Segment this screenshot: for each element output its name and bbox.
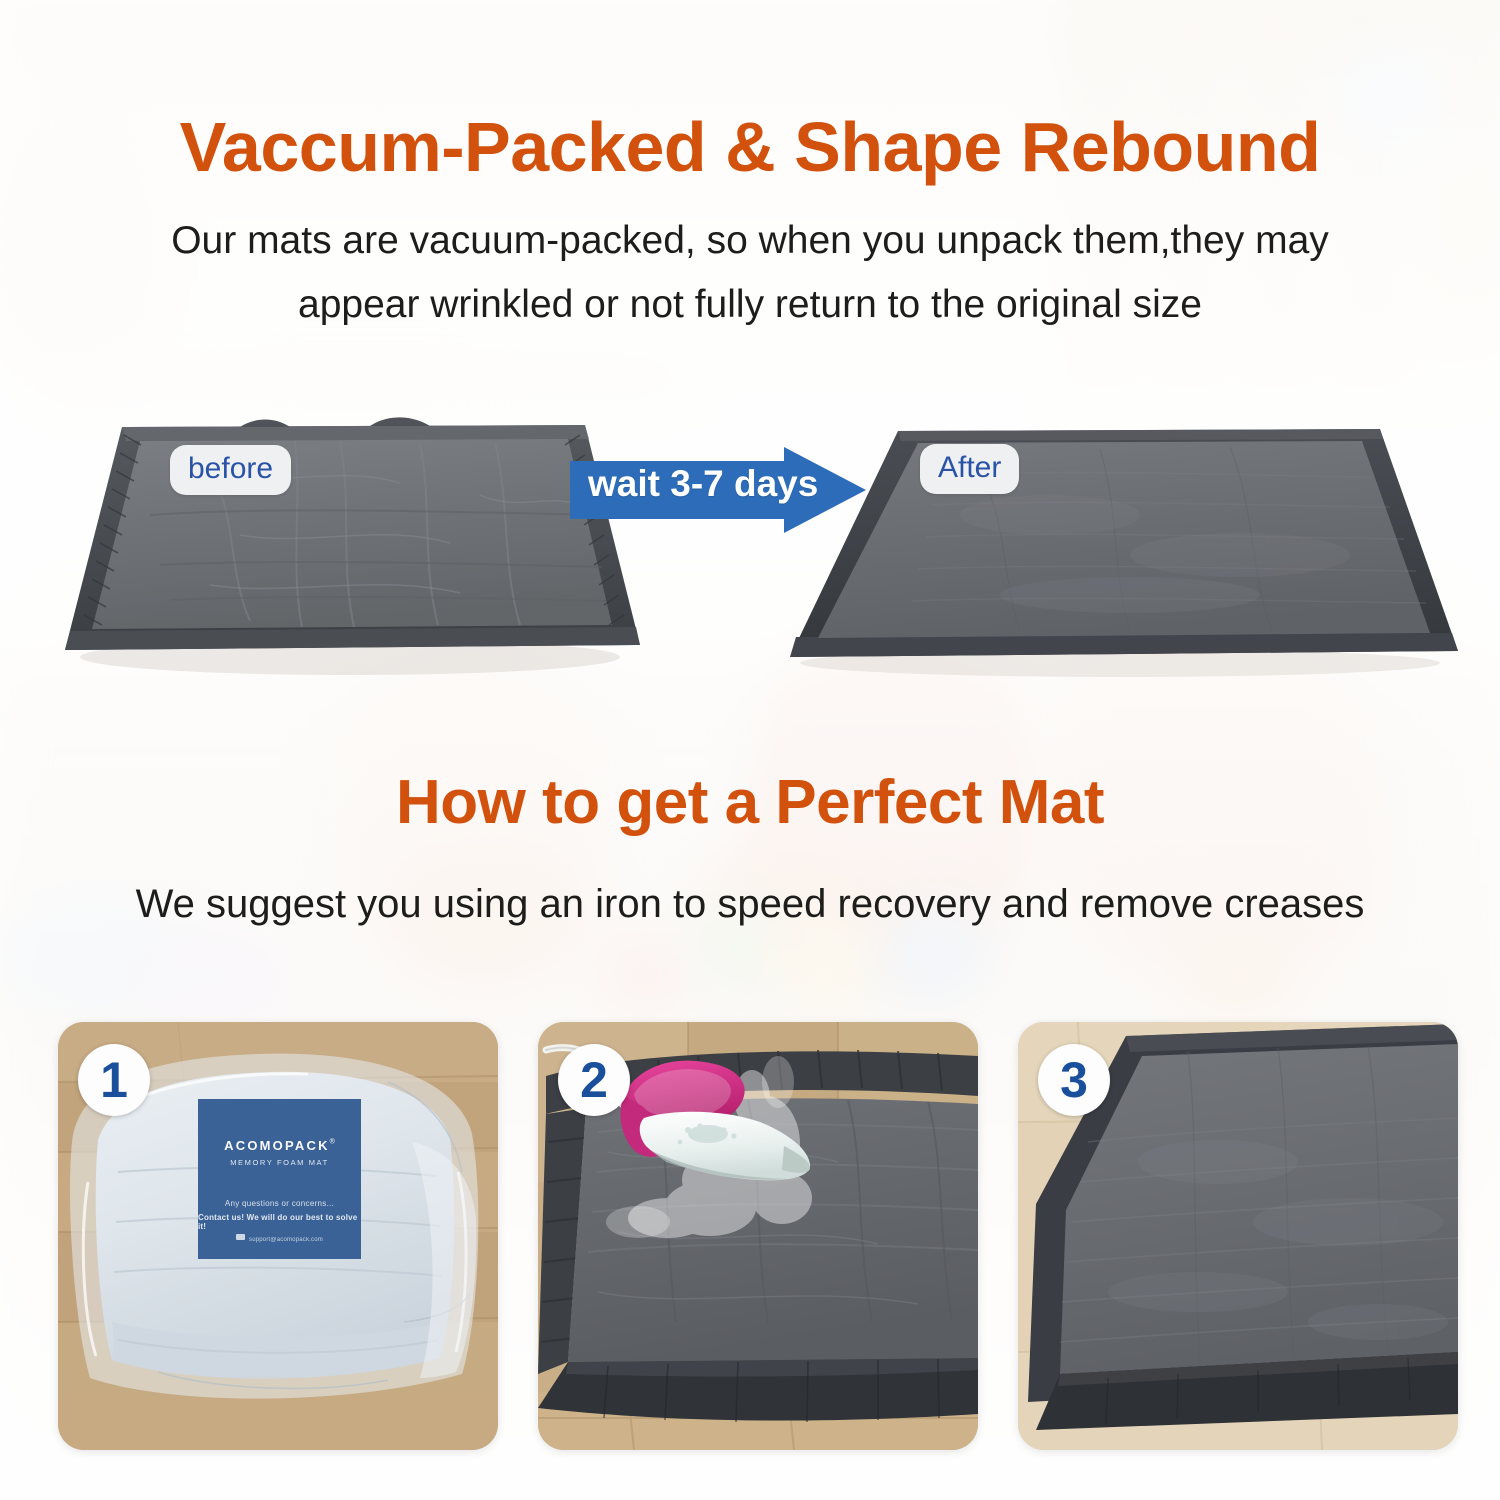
brand-name: ACOMOPACK: [224, 1138, 330, 1153]
step-number-badge-2: 2: [558, 1044, 630, 1116]
step-3-panel: 3: [1018, 1022, 1458, 1450]
step-2-panel: 2: [538, 1022, 978, 1450]
label-contact: Contact us! We will do our best to solve…: [198, 1213, 361, 1231]
subtitle-line-2: appear wrinkled or not fully return to t…: [0, 282, 1500, 328]
registered-mark: ®: [330, 1139, 335, 1146]
product-type: MEMORY FOAM MAT: [230, 1158, 329, 1167]
before-mat-image: [40, 395, 660, 685]
step-number-badge-3: 3: [1038, 1044, 1110, 1116]
envelope-icon: [236, 1234, 245, 1240]
page-title-vacuum-packed: Vaccum-Packed & Shape Rebound: [0, 108, 1500, 186]
product-label-card: ACOMOPACK® MEMORY FOAM MAT Any questions…: [198, 1099, 361, 1259]
before-badge: before: [170, 445, 291, 495]
page-title-perfect-mat: How to get a Perfect Mat: [0, 768, 1500, 838]
after-mat-image: [770, 405, 1470, 685]
subtitle-line-1: Our mats are vacuum-packed, so when you …: [0, 218, 1500, 264]
after-badge: After: [920, 444, 1019, 494]
section2-subtitle: We suggest you using an iron to speed re…: [0, 880, 1500, 928]
step-1-panel: ACOMOPACK® MEMORY FOAM MAT Any questions…: [58, 1022, 498, 1450]
label-question: Any questions or concerns...: [225, 1199, 334, 1208]
step-number-badge-1: 1: [78, 1044, 150, 1116]
wait-arrow-label: wait 3-7 days: [588, 462, 818, 506]
label-email: support@acomopack.com: [249, 1237, 323, 1243]
